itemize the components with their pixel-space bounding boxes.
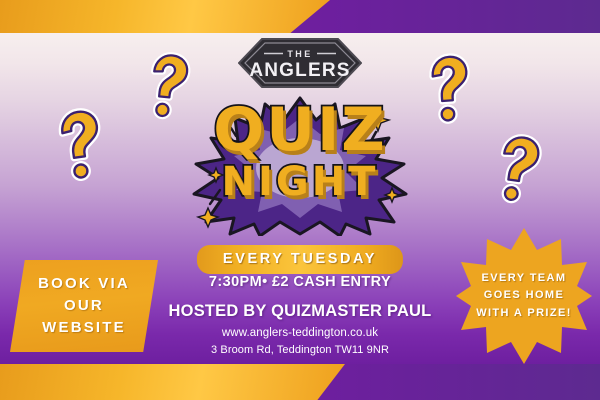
entry-details: 7:30PM• £2 CASH ENTRY xyxy=(209,274,391,290)
question-mark-icon xyxy=(418,50,478,129)
book-via-website-banner[interactable]: BOOK VIA OUR WEBSITE xyxy=(10,260,158,352)
anglers-logo: THE ANGLERS xyxy=(238,38,362,88)
every-tuesday-label: EVERY TUESDAY xyxy=(223,251,377,267)
every-tuesday-pill: EVERY TUESDAY xyxy=(197,245,403,274)
prize-line-2: GOES HOME xyxy=(484,287,564,304)
prize-line-3: WITH A PRIZE! xyxy=(476,305,572,322)
question-mark-icon xyxy=(138,48,196,125)
question-mark-icon xyxy=(48,105,110,186)
top-border-band xyxy=(0,0,600,33)
host-line: HOSTED BY QUIZMASTER PAUL xyxy=(169,302,432,321)
logo-top-text: THE xyxy=(287,49,312,59)
book-line-2: OUR xyxy=(64,295,104,317)
website-url[interactable]: www.anglers-teddington.co.uk xyxy=(222,327,378,339)
prize-badge: EVERY TEAM GOES HOME WITH A PRIZE! xyxy=(456,228,592,364)
book-line-1: BOOK VIA xyxy=(38,273,130,295)
venue-address: 3 Broom Rd, Teddington TW11 9NR xyxy=(211,344,389,356)
bottom-border-band xyxy=(0,364,600,400)
book-line-3: WEBSITE xyxy=(42,317,126,339)
prize-badge-text: EVERY TEAM GOES HOME WITH A PRIZE! xyxy=(456,228,592,364)
comic-starburst-icon xyxy=(180,96,420,236)
top-band-gold xyxy=(0,0,330,33)
prize-line-1: EVERY TEAM xyxy=(482,270,567,287)
bottom-band-gold xyxy=(0,364,345,400)
quiz-night-poster: THE ANGLERS QUIZ NIGHT EVERY TUESDAY 7: xyxy=(0,0,600,400)
question-mark-icon xyxy=(487,130,547,209)
logo-name-text: ANGLERS xyxy=(249,60,350,81)
